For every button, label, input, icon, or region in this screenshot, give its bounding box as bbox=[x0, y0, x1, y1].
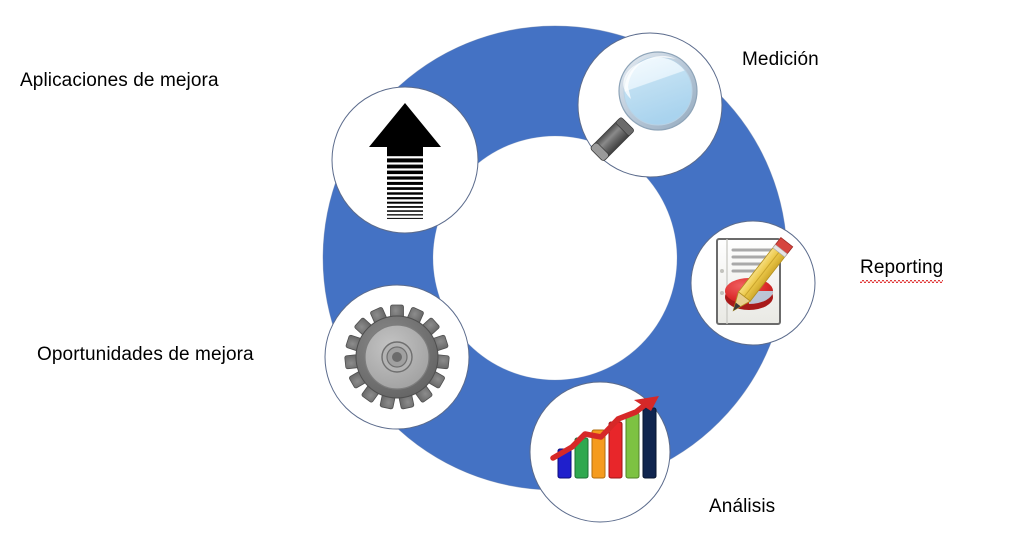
node-oportunidades[interactable] bbox=[325, 285, 469, 429]
node-analisis[interactable] bbox=[530, 382, 670, 522]
node-reporting[interactable] bbox=[691, 221, 815, 345]
node-aplicaciones[interactable] bbox=[332, 87, 478, 233]
label-analisis: Análisis bbox=[709, 496, 775, 519]
label-reporting-text: Reporting bbox=[860, 257, 943, 281]
label-aplicaciones-de-mejora: Aplicaciones de mejora bbox=[20, 70, 219, 93]
node-medicion[interactable] bbox=[578, 33, 722, 177]
label-reporting: Reporting bbox=[860, 257, 943, 281]
diagram-canvas: Aplicaciones de mejora Medición Reportin… bbox=[0, 0, 1024, 552]
label-oportunidades-de-mejora: Oportunidades de mejora bbox=[37, 344, 254, 367]
label-medicion: Medición bbox=[742, 49, 819, 72]
